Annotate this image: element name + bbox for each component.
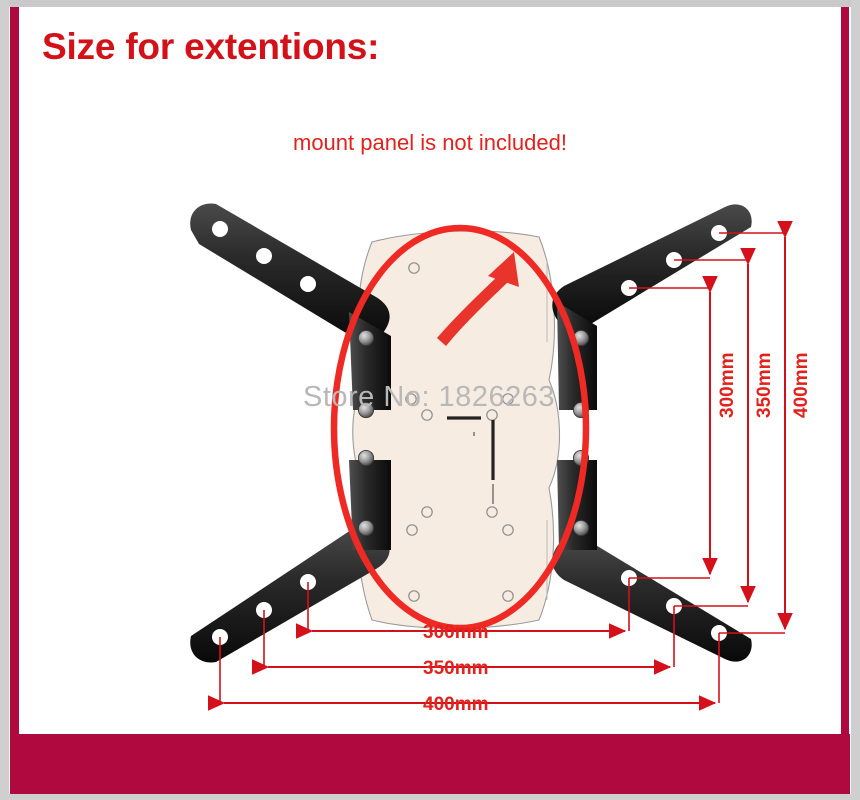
page-title: Size for extentions: [42,26,379,68]
dimension-label-width-400: 400mm [423,694,489,716]
dimension-label-height-400: 400mm [791,353,813,419]
frame-edge-right [851,0,860,800]
mount-panel [353,231,560,628]
frame-bar-right [841,7,849,735]
product-image-slide: Size for extentions: [0,0,860,800]
frame-edge-top [0,0,860,7]
frame-edge-left [0,0,9,800]
dimension-label-height-350: 350mm [754,353,776,419]
frame-edge-bottom [0,794,860,800]
not-included-note: mount panel is not included! [293,130,567,156]
frame-band-bottom [10,734,850,794]
dimension-label-width-300: 300mm [423,622,489,644]
frame-bar-left [10,7,19,735]
dimension-label-height-300: 300mm [717,353,739,419]
dimension-label-width-350: 350mm [423,658,489,680]
